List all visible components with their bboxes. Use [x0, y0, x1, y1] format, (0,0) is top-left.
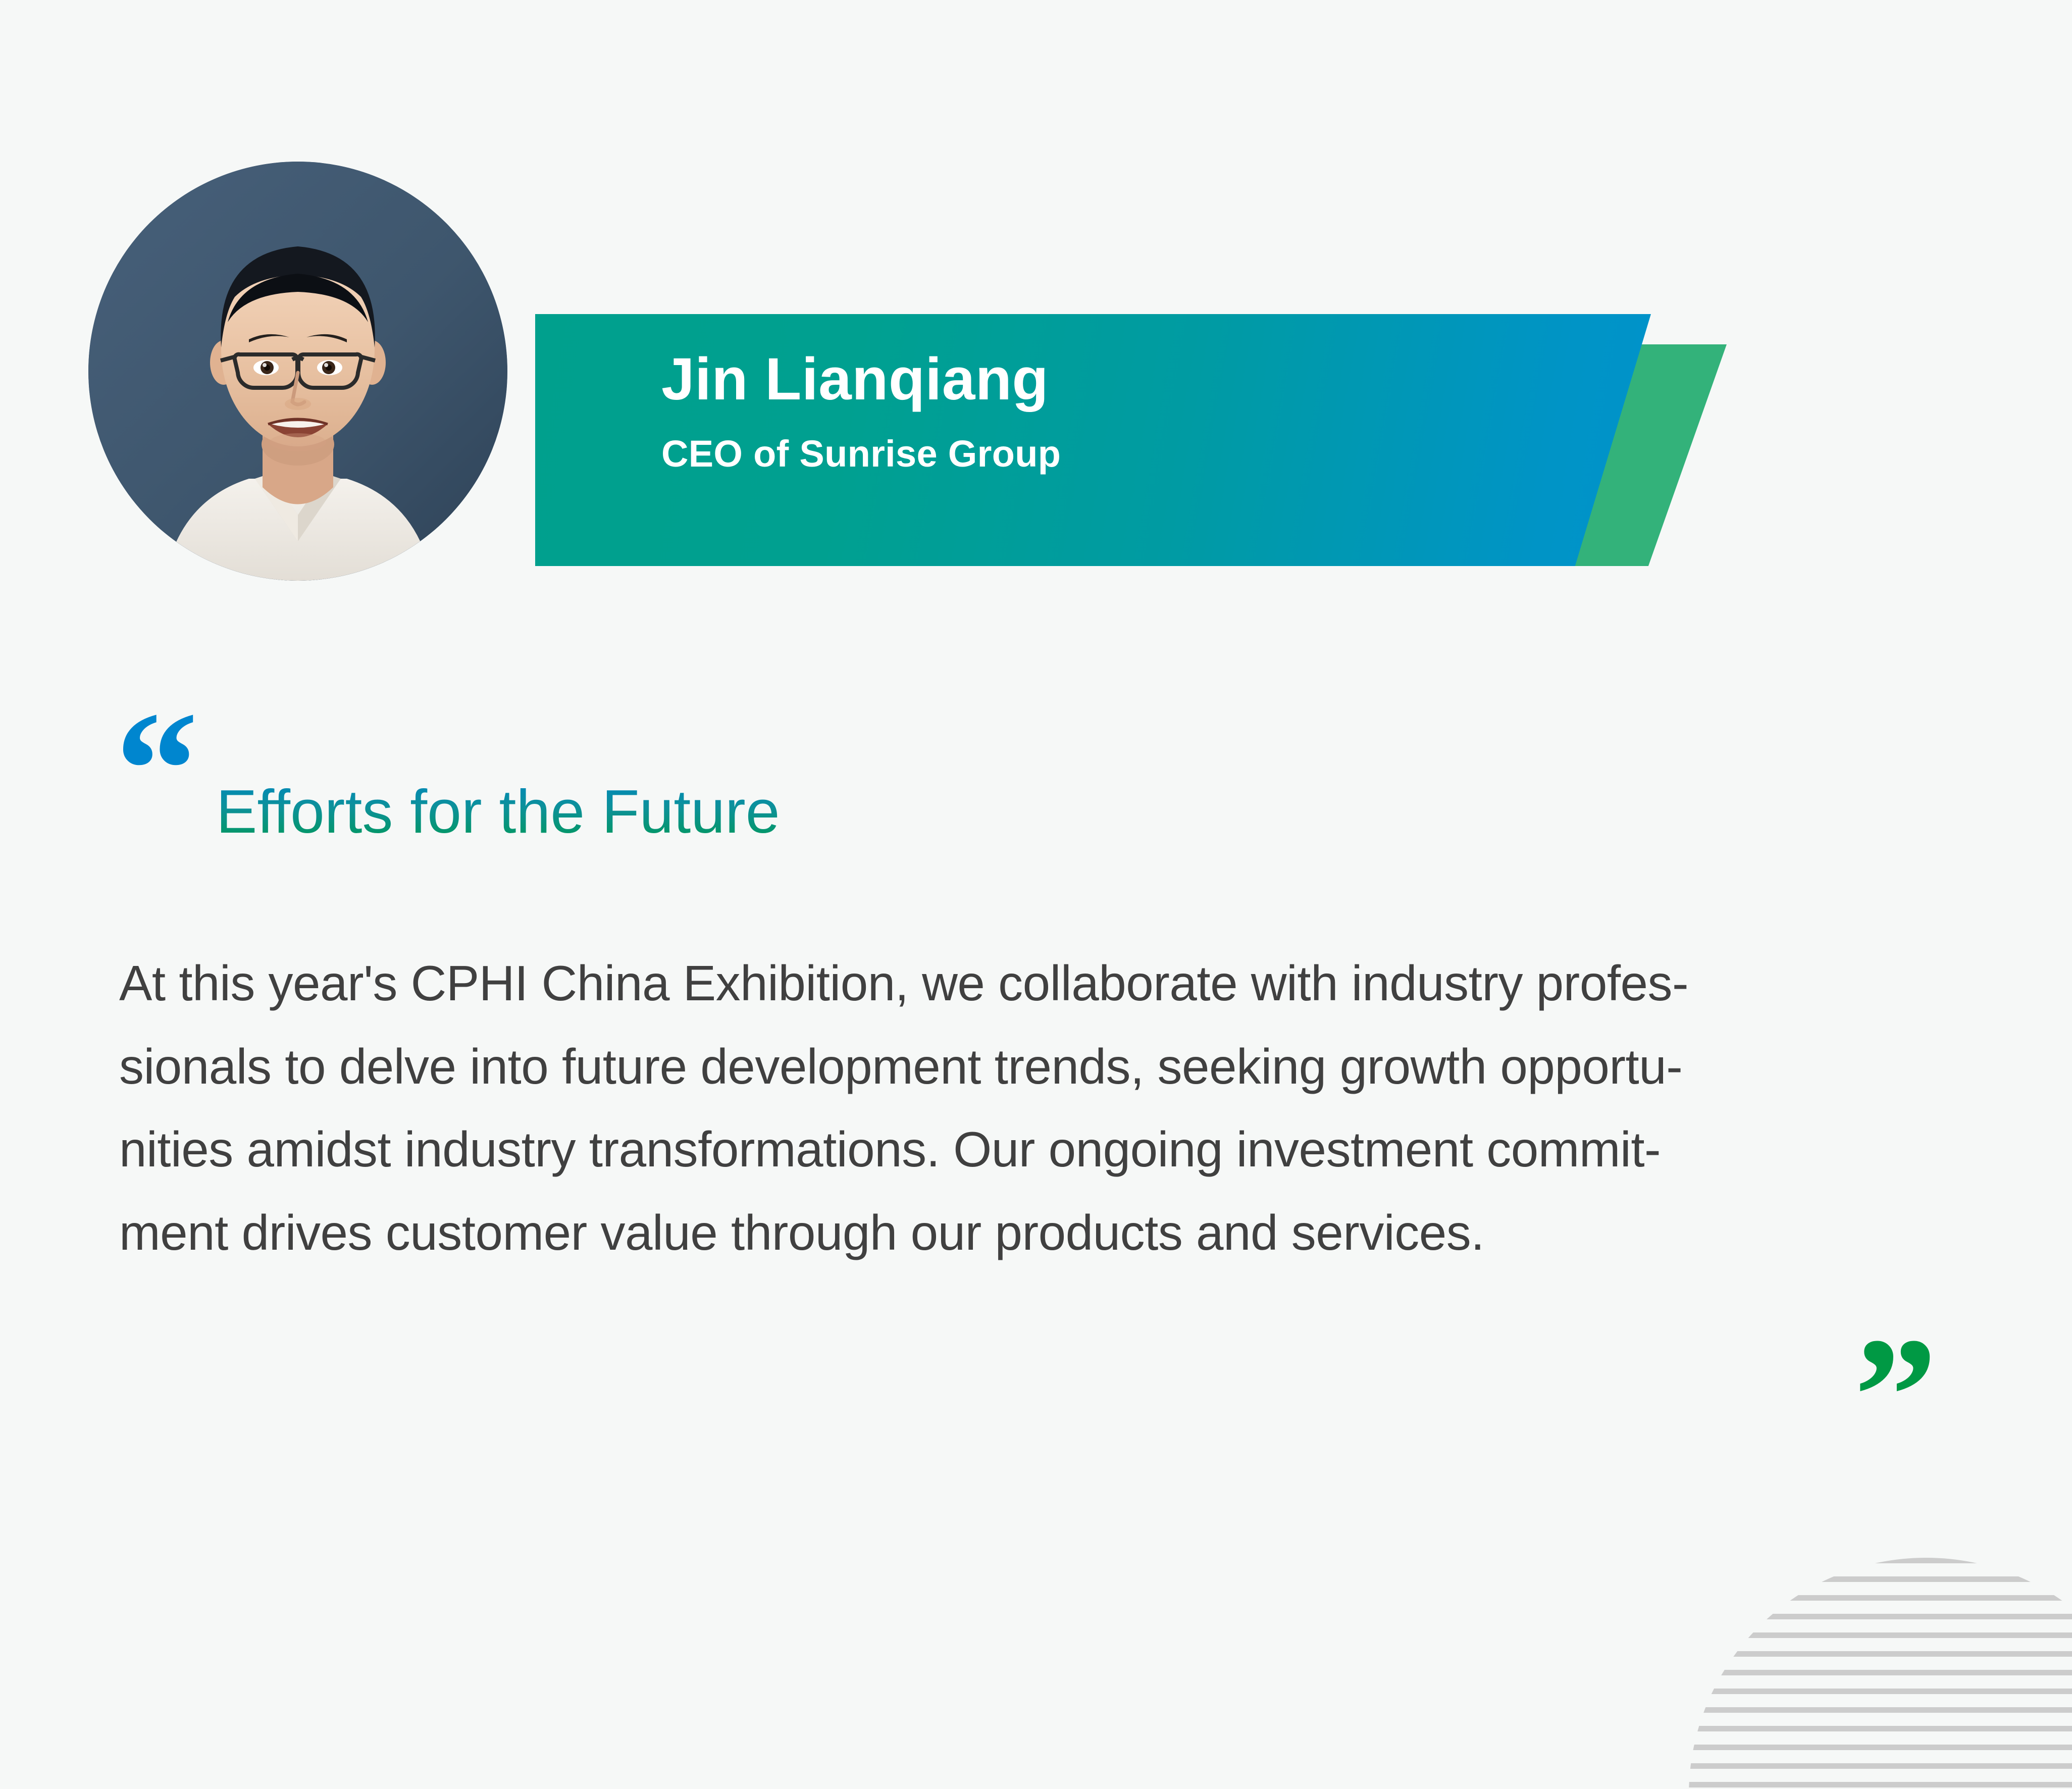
quote-body-line: nities amidst industry transformations. … — [119, 1108, 1886, 1191]
quote-heading: Efforts for the Future — [216, 778, 780, 845]
banner-text-group: Jin Lianqiang CEO of Sunrise Group — [661, 348, 1520, 474]
quote-body: At this year's CPHI China Exhibition, we… — [119, 942, 1886, 1274]
person-role: CEO of Sunrise Group — [661, 434, 1520, 474]
quote-body-line: ment drives customer value through our p… — [119, 1191, 1886, 1274]
person-name: Jin Lianqiang — [661, 348, 1520, 411]
quote-close-icon: ” — [1854, 1313, 1937, 1479]
quote-open-icon: “ — [115, 687, 198, 853]
avatar — [88, 162, 507, 581]
striped-circle-decoration — [1689, 1558, 2072, 1789]
quote-body-line: At this year's CPHI China Exhibition, we… — [119, 942, 1886, 1025]
portrait-illustration — [88, 162, 507, 581]
slide-canvas: Jin Lianqiang CEO of Sunrise Group — [0, 0, 2072, 1789]
quote-body-line: sionals to delve into future development… — [119, 1025, 1886, 1108]
